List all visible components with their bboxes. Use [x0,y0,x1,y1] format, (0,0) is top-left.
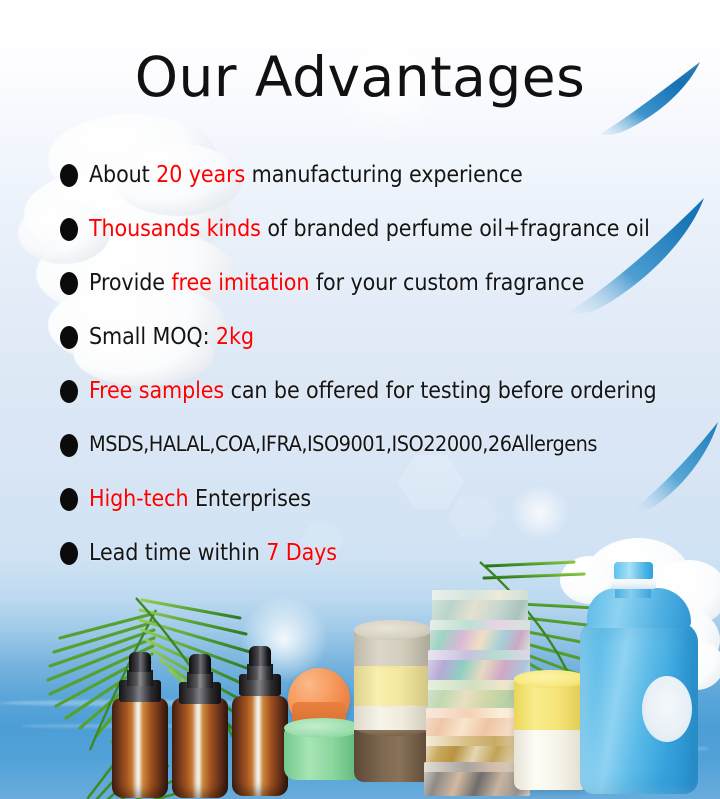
soap-jar-yellow-top [514,678,588,730]
list-item: Lead time within 7 Days [60,526,696,580]
bullet-dot-icon [60,218,78,241]
advantage-text-6: MSDS,HALAL,COA,IFRA,ISO9001,ISO22000,26A… [89,432,597,458]
page-title: Our Advantages [0,46,720,108]
cylinder-soap-yellow [354,660,432,706]
bullet-dot-icon [60,272,78,295]
soap-jar-white-base [514,730,588,790]
list-item: Small MOQ: 2kg [60,310,696,364]
list-item: High-tech Enterprises [60,472,696,526]
bullet-dot-icon [60,434,78,457]
advantage-text-2: Thousands kinds of branded perfume oil+f… [89,216,650,242]
advantage-text-3: Provide free imitation for your custom f… [89,270,584,296]
cylinder-soap-yellow-top [354,652,432,668]
bullet-dot-icon [60,326,78,349]
white-foam-cloud [668,640,720,690]
bullet-dot-icon [60,164,78,187]
round-soap-orange-edge [292,702,346,738]
list-item: MSDS,HALAL,COA,IFRA,ISO9001,ISO22000,26A… [60,418,696,472]
list-item: Thousands kinds of branded perfume oil+f… [60,202,696,256]
green-palm-frond [0,608,184,758]
bullet-dot-icon [60,380,78,403]
yellow-white-soap-jar [514,678,588,790]
bullet-dot-icon [60,542,78,565]
jug-shoulder [587,588,691,628]
advantage-text-8: Lead time within 7 Days [89,540,337,566]
soap-jar-top-ellipse [514,670,588,688]
blue-detergent-jug [580,562,698,794]
marbled-soap-slab [428,650,530,684]
marbled-soap-slab [426,708,530,740]
water-highlight [0,700,260,706]
advantages-list: About 20 years manufacturing experience … [60,148,696,580]
cylinder-soap-beige-top [354,620,432,640]
cylinder-soap-brown [354,726,432,782]
cylinder-soap-white [354,700,432,730]
round-soap-orange [288,668,350,730]
jug-body [580,622,698,794]
round-soap-green [284,726,362,780]
advantage-text-1: About 20 years manufacturing experience [89,162,523,188]
cylinder-soap-white-top [354,692,432,708]
light-bokeh [236,596,332,682]
advantage-text-5: Free samples can be offered for testing … [89,378,657,404]
cylinder-soap-brown-top [354,718,432,736]
marbled-soap-slab [432,590,528,624]
bullet-dot-icon [60,488,78,511]
advantage-text-7: High-tech Enterprises [89,486,311,512]
amber-dropper-bottle [232,644,288,796]
advantages-poster: Our Advantages About 20 years manufactur… [0,0,720,799]
jug-handle [642,676,692,742]
list-item: About 20 years manufacturing experience [60,148,696,202]
marbled-soap-slab-oat [426,736,530,766]
list-item: Provide free imitation for your custom f… [60,256,696,310]
green-palm-frond-sprig [86,744,206,799]
white-foam-cloud [624,604,720,676]
cylinder-soap-beige [354,630,432,666]
green-palm-frond [128,596,328,756]
marbled-soap-slab [430,620,530,654]
round-soap-green-top [284,718,362,738]
list-item: Free samples can be offered for testing … [60,364,696,418]
advantage-text-4: Small MOQ: 2kg [89,324,254,350]
marbled-soap-slab [428,680,530,712]
water-highlight [560,746,710,751]
marbled-soap-slab-grey [424,762,530,796]
water-highlight [20,724,200,728]
